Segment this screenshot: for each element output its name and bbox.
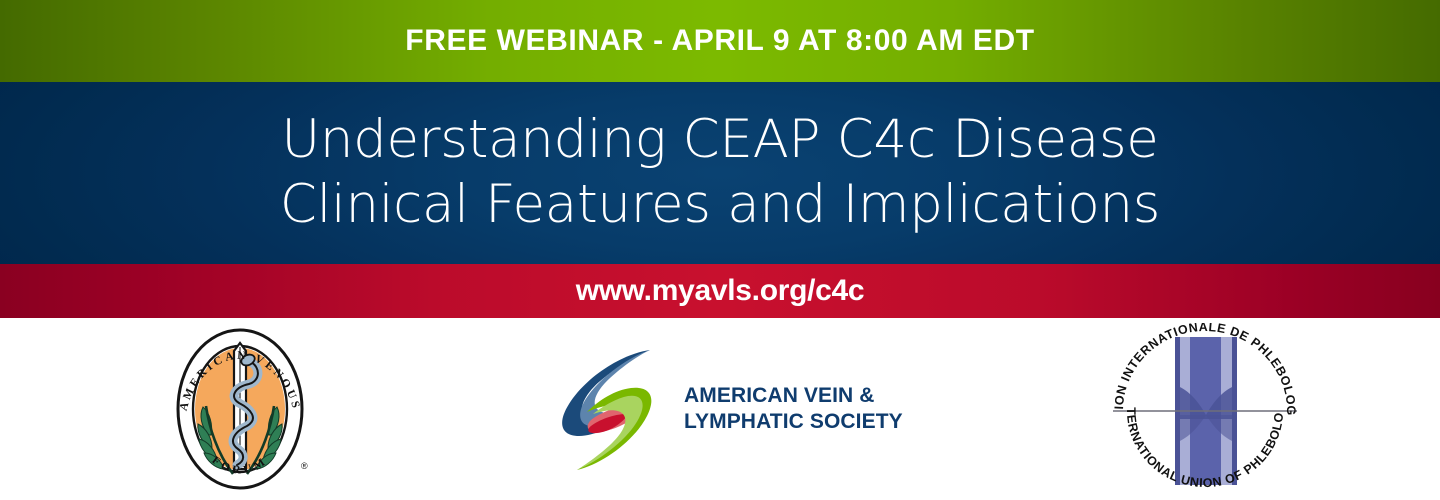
logo-american-vein-lymphatic-society: AMERICAN VEIN & LYMPHATIC SOCIETY bbox=[555, 318, 915, 500]
avls-swoosh-icon bbox=[555, 344, 670, 474]
webinar-promo-banner: FREE WEBINAR - APRIL 9 AT 8:00 AM EDT Un… bbox=[0, 0, 1440, 500]
uip-icon: UNION INTERNATIONALE DE PHLEBOLOGIE INTE… bbox=[1105, 323, 1305, 495]
title-block: Understanding CEAP C4c Disease Clinical … bbox=[0, 82, 1440, 264]
avls-wordmark: AMERICAN VEIN & LYMPHATIC SOCIETY bbox=[684, 383, 903, 434]
website-url[interactable]: www.myavls.org/c4c bbox=[576, 274, 865, 308]
logo-strip: AMERICAN VENOUS FORUM ® bbox=[0, 318, 1440, 500]
promo-text: FREE WEBINAR - APRIL 9 AT 8:00 AM EDT bbox=[405, 24, 1034, 58]
logo-union-internationale-de-phlebologie: UNION INTERNATIONALE DE PHLEBOLOGIE INTE… bbox=[1095, 318, 1315, 500]
avf-registered-mark: ® bbox=[301, 461, 308, 471]
avls-wordmark-line-2: LYMPHATIC SOCIETY bbox=[684, 409, 903, 435]
title-line-1: Understanding CEAP C4c Disease bbox=[281, 108, 1158, 173]
avls-wordmark-line-1: AMERICAN VEIN & bbox=[684, 383, 903, 409]
american-venous-forum-icon: AMERICAN VENOUS FORUM ® bbox=[165, 327, 315, 492]
title-line-2: Clinical Features and Implications bbox=[280, 173, 1160, 238]
logo-american-venous-forum: AMERICAN VENOUS FORUM ® bbox=[155, 318, 325, 500]
promo-bar: FREE WEBINAR - APRIL 9 AT 8:00 AM EDT bbox=[0, 0, 1440, 82]
url-bar[interactable]: www.myavls.org/c4c bbox=[0, 264, 1440, 318]
